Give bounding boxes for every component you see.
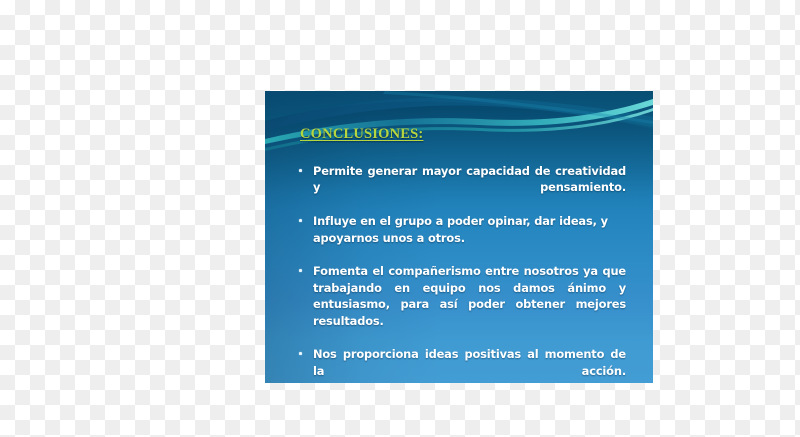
bullet-dot-icon — [299, 219, 302, 222]
slide-content: CONCLUSIONES: Permite generar mayor capa… — [265, 91, 653, 383]
bullet-text-4: Nos proporciona ideas positivas al momen… — [313, 346, 626, 383]
bullet-item-1: Permite generar mayor capacidad de creat… — [296, 163, 626, 212]
conclusions-bullet-list: Permite generar mayor capacidad de creat… — [296, 163, 626, 383]
bullet-text-2: Influye en el grupo a poder opinar, dar … — [313, 213, 626, 262]
bullet-dot-icon — [299, 269, 302, 272]
bullet-item-2: Influye en el grupo a poder opinar, dar … — [296, 213, 626, 262]
bullet-text-1: Permite generar mayor capacidad de creat… — [313, 163, 626, 212]
transparency-canvas: CONCLUSIONES: Permite generar mayor capa… — [0, 0, 800, 437]
presentation-slide: CONCLUSIONES: Permite generar mayor capa… — [265, 91, 653, 383]
bullet-dot-icon — [299, 169, 302, 172]
bullet-item-3: Fomenta el compañerismo entre nosotros y… — [296, 263, 626, 345]
bullet-dot-icon — [299, 352, 302, 355]
bullet-item-4: Nos proporciona ideas positivas al momen… — [296, 346, 626, 383]
slide-title: CONCLUSIONES: — [300, 126, 423, 143]
bullet-text-3: Fomenta el compañerismo entre nosotros y… — [313, 263, 626, 345]
